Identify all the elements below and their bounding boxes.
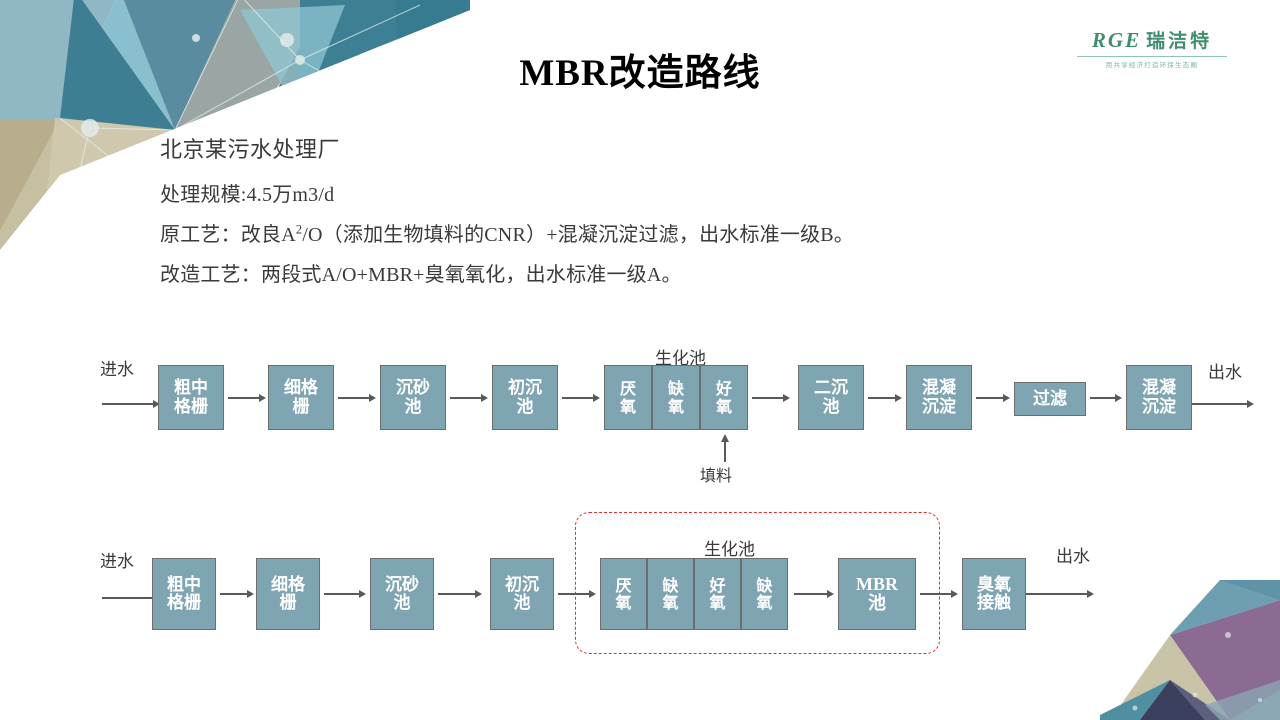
- treatment-scale-line: 处理规模:4.5万m3/d: [160, 178, 1160, 207]
- original-process-label: 原工艺：: [160, 224, 241, 246]
- flow1-bio-cell-aerobic: 好 氧: [700, 365, 748, 430]
- flow1-inlet-arrow: [102, 398, 160, 410]
- node-line: 二沉: [814, 379, 848, 397]
- node-line: 氧: [709, 594, 725, 611]
- flow2-bio-cell-anaerobic: 厌 氧: [600, 558, 647, 630]
- node-line: 池: [514, 594, 531, 612]
- flow1-bio-cell-anoxic: 缺 氧: [652, 365, 700, 430]
- flow1-node-grit-chamber: 沉砂 池: [380, 365, 446, 430]
- intro-text-block: 北京某污水处理厂 处理规模:4.5万m3/d 原工艺：改良A2/O（添加生物填料…: [160, 132, 1160, 298]
- node-line: 池: [823, 398, 840, 416]
- flow1-node-secondary-sedimentation: 二沉 池: [798, 365, 864, 430]
- node-line: 栅: [280, 594, 297, 612]
- flow2-arrow-1: [220, 588, 254, 600]
- flow2-node-mbr-tank: MBR 池: [838, 558, 916, 630]
- flow2-node-coarse-screen: 粗中 格栅: [152, 558, 216, 630]
- flow1-arrow-5: [752, 392, 790, 404]
- node-line: 好: [716, 380, 732, 397]
- node-line: 粗中: [174, 379, 208, 397]
- node-line: MBR: [856, 575, 898, 594]
- node-line: 氧: [620, 398, 636, 415]
- treatment-scale-value: 4.5万m3/d: [247, 184, 335, 206]
- node-line: 沉淀: [1142, 398, 1176, 416]
- flow1-node-coagulation-sedimentation-2: 混凝 沉淀: [1126, 365, 1192, 430]
- node-line: 氧: [615, 594, 631, 611]
- node-line: 缺: [756, 577, 772, 594]
- flow2-node-fine-screen: 细格 栅: [256, 558, 320, 630]
- flow1-node-coagulation-sedimentation-1: 混凝 沉淀: [906, 365, 972, 430]
- node-line: 细格: [284, 379, 318, 397]
- node-line: 格栅: [174, 398, 208, 416]
- flow1-arrow-2: [338, 392, 376, 404]
- node-line: 初沉: [508, 379, 542, 397]
- project-name: 北京某污水处理厂: [160, 132, 1160, 164]
- node-line: 池: [868, 594, 886, 613]
- original-process-line: 原工艺：改良A2/O（添加生物填料的CNR）+混凝沉淀过滤，出水标准一级B。: [160, 218, 1160, 247]
- flow1-media-label: 填料: [700, 462, 732, 486]
- flow1-node-primary-sedimentation: 初沉 池: [492, 365, 558, 430]
- flow1-arrow-7: [976, 392, 1010, 404]
- flow1-node-coarse-screen: 粗中 格栅: [158, 365, 224, 430]
- node-line: 好: [709, 577, 725, 594]
- flow2-bio-group-caption: 生化池: [704, 535, 755, 560]
- flow1-arrow-8: [1090, 392, 1122, 404]
- node-line: 沉淀: [922, 398, 956, 416]
- flow2-inlet-label: 进水: [100, 547, 134, 572]
- node-line: 缺: [662, 577, 678, 594]
- flow1-outlet-label: 出水: [1208, 358, 1242, 383]
- flow2-node-primary-sedimentation: 初沉 池: [490, 558, 554, 630]
- flow2-outlet-arrow: [1026, 588, 1094, 600]
- flow2-node-ozone-contact: 臭氧 接触: [962, 558, 1026, 630]
- node-line: 接触: [977, 594, 1011, 612]
- flow2-arrow-2: [324, 588, 366, 600]
- node-line: 沉砂: [396, 379, 430, 397]
- node-line: 氧: [662, 594, 678, 611]
- node-line: 氧: [668, 398, 684, 415]
- flow1-node-filtration: 过滤: [1014, 382, 1086, 416]
- node-line: 粗中: [167, 576, 201, 594]
- flow2-node-grit-chamber: 沉砂 池: [370, 558, 434, 630]
- node-line: 混凝: [1142, 379, 1176, 397]
- flow2-arrow-6: [920, 588, 958, 600]
- flow1-media-arrow: [718, 434, 732, 462]
- flow2-outlet-label: 出水: [1056, 542, 1090, 567]
- node-line: 臭氧: [977, 576, 1011, 594]
- node-line: 过滤: [1033, 390, 1067, 408]
- node-line: 池: [405, 398, 422, 416]
- node-line: 格栅: [167, 594, 201, 612]
- original-process-part1: 改良A: [241, 224, 296, 246]
- flow2-bio-cell-anoxic-1: 缺 氧: [647, 558, 694, 630]
- flow1-arrow-6: [868, 392, 902, 404]
- node-line: 池: [394, 594, 411, 612]
- treatment-scale-label: 处理规模:: [160, 184, 247, 206]
- page-title: MBR改造路线: [0, 42, 1280, 96]
- flow1-bio-cell-anaerobic: 厌 氧: [604, 365, 652, 430]
- flow2-arrow-3: [438, 588, 482, 600]
- flow1-arrow-1: [228, 392, 266, 404]
- node-line: 混凝: [922, 379, 956, 397]
- flow1-arrow-4: [562, 392, 600, 404]
- node-line: 缺: [668, 380, 684, 397]
- original-process-flow-diagram: 进水 粗中 格栅 细格 栅 沉砂 池 初沉 池 生化池 厌 氧 缺 氧 好 氧 …: [0, 340, 1280, 480]
- flow2-bio-cell-aerobic: 好 氧: [694, 558, 741, 630]
- upgraded-process-line: 改造工艺：两段式A/O+MBR+臭氧氧化，出水标准一级A。: [160, 258, 1160, 287]
- flow1-node-fine-screen: 细格 栅: [268, 365, 334, 430]
- flow1-arrow-3: [450, 392, 488, 404]
- node-line: 池: [517, 398, 534, 416]
- node-line: 细格: [271, 576, 305, 594]
- node-line: 氧: [716, 398, 732, 415]
- flow1-outlet-arrow: [1192, 398, 1254, 410]
- node-line: 厌: [620, 380, 636, 397]
- node-line: 厌: [615, 577, 631, 594]
- original-process-part2: /O（添加生物填料的CNR）+混凝沉淀过滤，出水标准一级B。: [302, 224, 854, 246]
- node-line: 初沉: [505, 576, 539, 594]
- flow2-arrow-5: [794, 588, 834, 600]
- flow2-arrow-4: [558, 588, 596, 600]
- upgraded-process-flow-diagram: 生化池 进水 粗中 格栅 细格 栅 沉砂 池 初沉 池 厌 氧 缺 氧 好 氧 …: [0, 520, 1280, 660]
- flow2-bio-cell-anoxic-2: 缺 氧: [741, 558, 788, 630]
- node-line: 沉砂: [385, 576, 419, 594]
- node-line: 栅: [293, 398, 310, 416]
- node-line: 氧: [756, 594, 772, 611]
- flow1-inlet-label: 进水: [100, 355, 134, 380]
